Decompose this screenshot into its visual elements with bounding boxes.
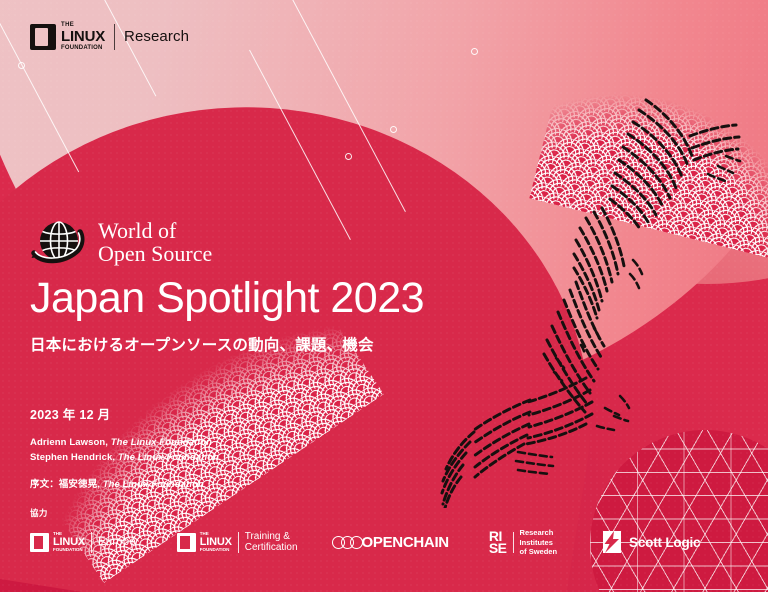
preface-separator: , (97, 479, 100, 490)
rise-letters-line-2: SE (489, 542, 507, 555)
linux-foundation-wordmark: THE LINUX FOUNDATION (53, 532, 85, 553)
vertical-divider-icon (513, 532, 514, 553)
logo-foundation-text: FOUNDATION (53, 548, 85, 553)
author-row: Stephen Hendrick, The Linux Foundation (30, 451, 219, 466)
vertical-divider-icon (114, 24, 115, 50)
scott-logic-wordmark: Scott Logic (629, 535, 700, 550)
author-list: Adrienn Lawson, The Linux Foundation Ste… (30, 436, 219, 465)
logo-linux-text: LINUX (53, 537, 85, 548)
partner-logo-scott-logic: Scott Logic (601, 530, 700, 554)
preface-credit: 序文：福安徳晃, The Linux Foundation (30, 476, 219, 490)
linux-foundation-mark-icon (30, 533, 49, 552)
logo-suffix-research: Research (124, 28, 189, 45)
publication-meta: 2023 年 12 月 Adrienn Lawson, The Linux Fo… (30, 404, 219, 490)
page-title: Japan Spotlight 2023 (30, 276, 500, 321)
linux-foundation-mark-icon (30, 24, 56, 50)
partner-section: 協力 THE LINUX FOUNDATION Europe (30, 507, 736, 557)
linux-foundation-logo: THE LINUX FOUNDATION (30, 532, 85, 553)
partner-suffix-line-2: Certification (245, 542, 298, 554)
linux-foundation-research-logo: THE LINUX FOUNDATION Research (30, 22, 189, 51)
globe-icon (30, 214, 86, 270)
brand-line-1: World of (98, 219, 212, 242)
linux-foundation-wordmark: THE LINUX FOUNDATION (200, 532, 232, 553)
author-name: Adrienn Lawson (30, 437, 105, 448)
vertical-divider-icon (91, 532, 92, 553)
rise-sub-line-3: of Sweden (520, 547, 558, 557)
linux-foundation-mark-icon (177, 533, 196, 552)
partner-logo-linux-foundation-europe: THE LINUX FOUNDATION Europe (30, 532, 136, 553)
author-affiliation: The Linux Foundation (111, 437, 212, 448)
linux-foundation-logo: THE LINUX FOUNDATION (177, 532, 232, 553)
vertical-divider-icon (238, 532, 239, 553)
rise-sub-line-1: Research (520, 528, 558, 538)
author-row: Adrienn Lawson, The Linux Foundation (30, 436, 219, 451)
brand-line-2: Open Source (98, 242, 212, 265)
circle-accent-4 (18, 62, 25, 69)
author-affiliation: The Linux Foundation (118, 452, 219, 463)
cover-content: World of Open Source Japan Spotlight 202… (30, 214, 500, 355)
openchain-wordmark: OPENCHAIN (362, 534, 449, 551)
partner-logo-rise: RI SE Research Institutes of Sweden (489, 528, 557, 557)
circle-accent-2 (390, 126, 397, 133)
circle-accent-3 (471, 48, 478, 55)
rise-subtitle: Research Institutes of Sweden (520, 528, 558, 557)
circle-accent-1 (345, 153, 352, 160)
rise-sub-line-2: Institutes (520, 538, 558, 548)
partner-logo-linux-foundation-training: THE LINUX FOUNDATION Training & Certific… (177, 531, 298, 554)
world-of-open-source-text: World of Open Source (98, 219, 212, 265)
publication-date: 2023 年 12 月 (30, 404, 219, 423)
partner-suffix-line-1: Training & (245, 531, 298, 543)
scott-logic-mark-icon (601, 530, 623, 554)
preface-affiliation: The Linux Foundation (103, 479, 204, 490)
logo-linux-text: LINUX (61, 29, 105, 44)
author-name: Stephen Hendrick (30, 452, 112, 463)
logo-foundation-text: FOUNDATION (61, 45, 105, 51)
partner-suffix-europe: Europe (98, 536, 136, 548)
linux-foundation-wordmark: THE LINUX FOUNDATION (61, 22, 105, 51)
partner-section-label: 協力 (30, 507, 736, 519)
logo-linux-text: LINUX (200, 537, 232, 548)
rise-letters: RI SE (489, 530, 507, 556)
openchain-rings-icon (332, 536, 359, 549)
world-of-open-source-brand: World of Open Source (30, 214, 500, 270)
partner-logo-openchain: OPENCHAIN (332, 534, 449, 551)
logo-foundation-text: FOUNDATION (200, 548, 232, 553)
cover-page: THE LINUX FOUNDATION Research (0, 0, 768, 592)
partner-suffix-training: Training & Certification (245, 531, 298, 554)
partner-logo-row: THE LINUX FOUNDATION Europe THE LINUX FO… (30, 528, 736, 557)
preface-label: 序文：福安徳晃 (30, 479, 97, 490)
page-subtitle: 日本におけるオープンソースの動向、課題、機会 (30, 333, 500, 355)
linux-foundation-logo: THE LINUX FOUNDATION (30, 22, 105, 51)
